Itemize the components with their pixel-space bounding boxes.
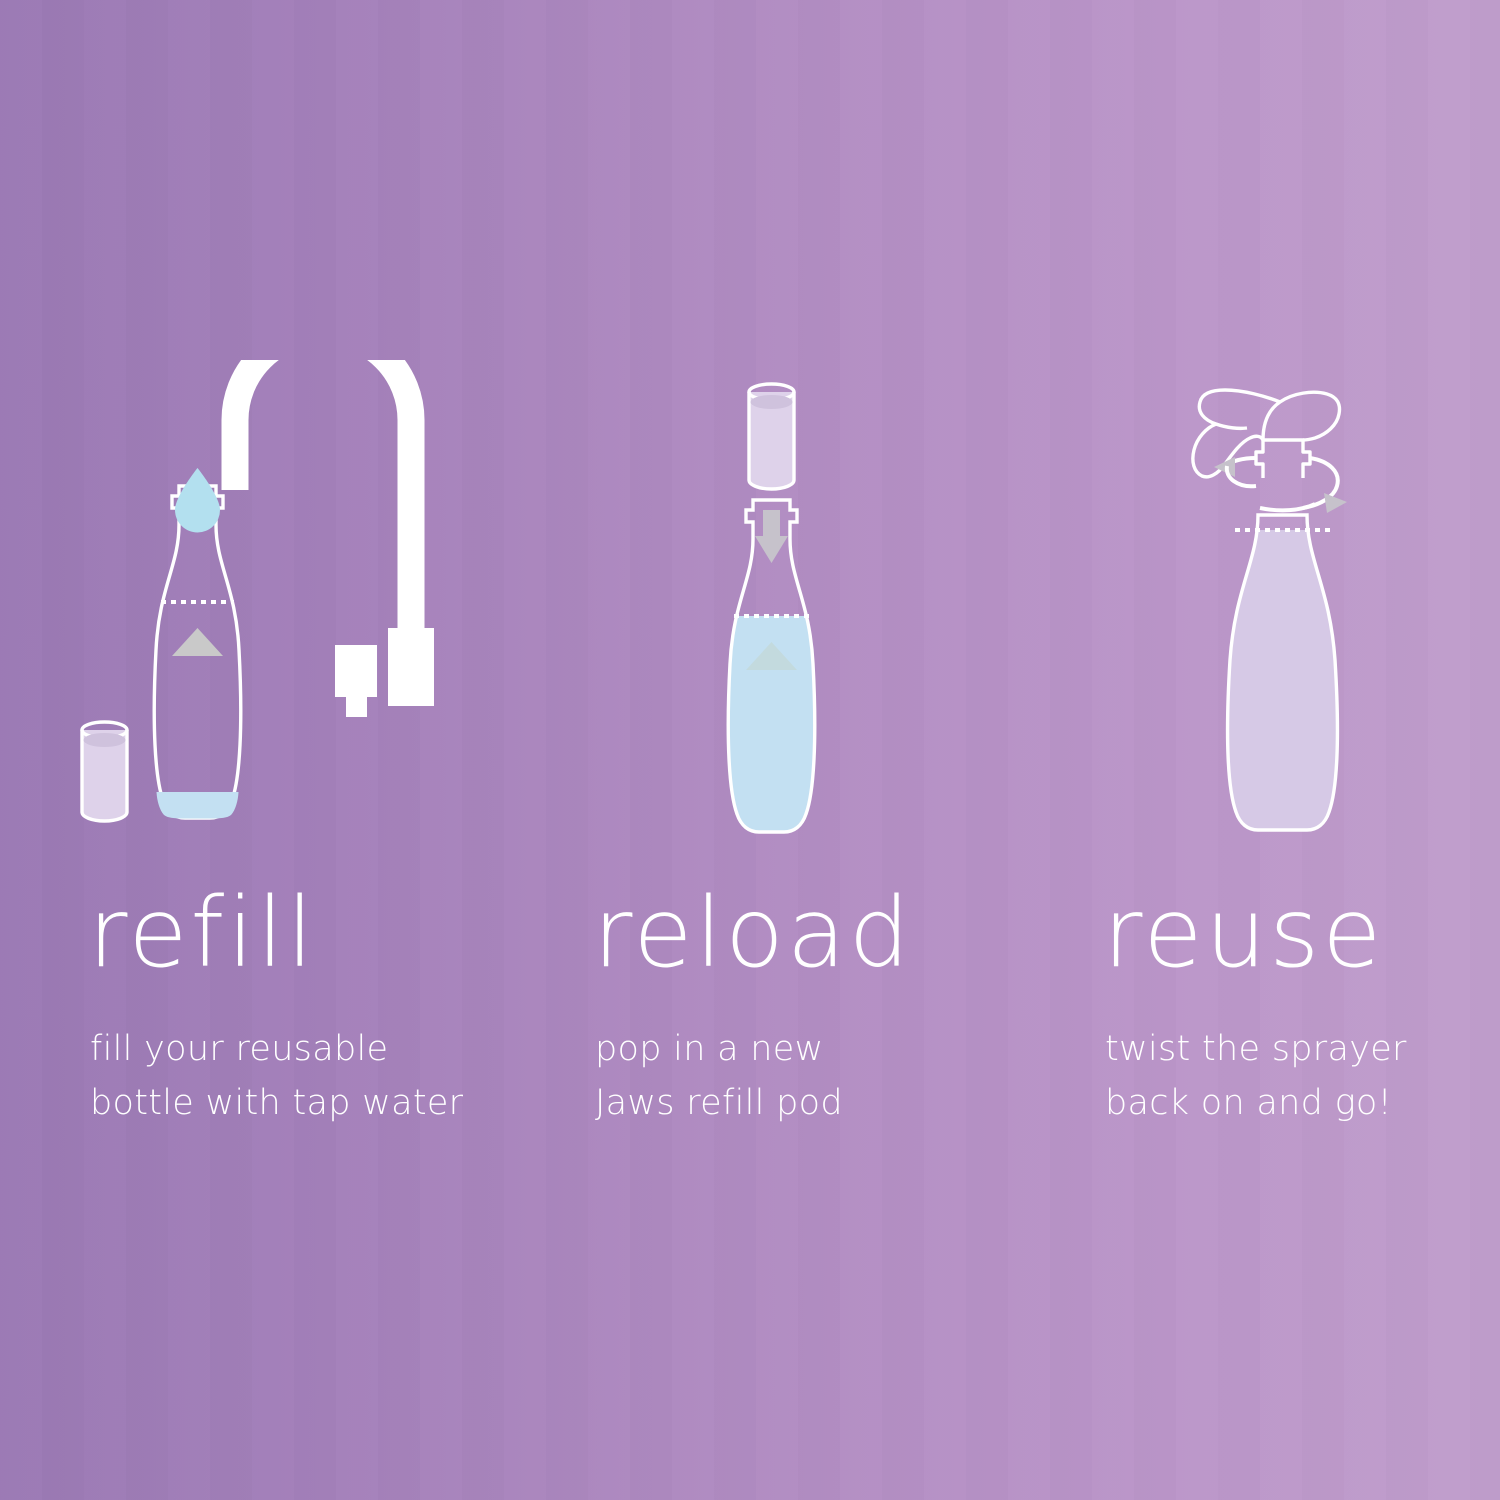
reload-artwork-svg	[565, 360, 1035, 850]
refill-artwork-svg	[60, 360, 530, 850]
step-column-reload: reload pop in a new Jaws refill pod	[565, 0, 1035, 1500]
bottle-water-level	[157, 792, 239, 819]
twist-arrow-right-head	[1324, 493, 1347, 513]
step-column-refill: refill fill your reusable bottle with ta…	[60, 0, 530, 1500]
refill-pod-vial-hovering	[749, 384, 794, 489]
illustration-reload	[565, 360, 1035, 850]
faucet-handle-stem	[346, 697, 367, 717]
fill-level-triangle-marker	[172, 628, 223, 656]
insert-down-arrow-icon	[755, 510, 788, 563]
water-droplet-icon	[175, 468, 220, 533]
reusable-bottle	[154, 468, 241, 819]
faucet-handle	[335, 645, 377, 697]
step-heading-reload: reload	[593, 885, 913, 981]
twist-arrow-lower-curve	[1260, 504, 1315, 510]
sprayer-nozzle-top	[1199, 390, 1280, 428]
faucet-icon	[235, 360, 434, 717]
illustration-refill	[60, 360, 530, 850]
illustration-reuse	[1075, 360, 1500, 850]
pod-liquid-surface	[751, 395, 793, 409]
step-caption-refill: fill your reusable bottle with tap water	[90, 1022, 463, 1131]
faucet-body	[388, 628, 434, 706]
step-caption-reload: pop in a new Jaws refill pod	[595, 1022, 843, 1131]
step-caption-reuse: twist the sprayer back on and go!	[1105, 1022, 1407, 1131]
reuse-artwork-svg	[1075, 360, 1500, 850]
pod-liquid-surface	[84, 733, 126, 747]
spray-bottle	[1215, 515, 1355, 840]
twist-rotation-arrows-icon	[1214, 457, 1347, 513]
infographic-page: refill fill your reusable bottle with ta…	[0, 0, 1500, 1500]
reusable-bottle-filled	[715, 500, 835, 846]
step-column-reuse: reuse twist the sprayer back on and go!	[1075, 0, 1500, 1500]
step-heading-reuse: reuse	[1103, 885, 1384, 981]
step-heading-refill: refill	[88, 885, 316, 981]
sprayer-collar	[1256, 440, 1310, 478]
refill-pod-vial	[82, 722, 127, 821]
trigger-sprayer-icon	[1193, 390, 1340, 478]
faucet-gooseneck-arc	[235, 360, 411, 640]
